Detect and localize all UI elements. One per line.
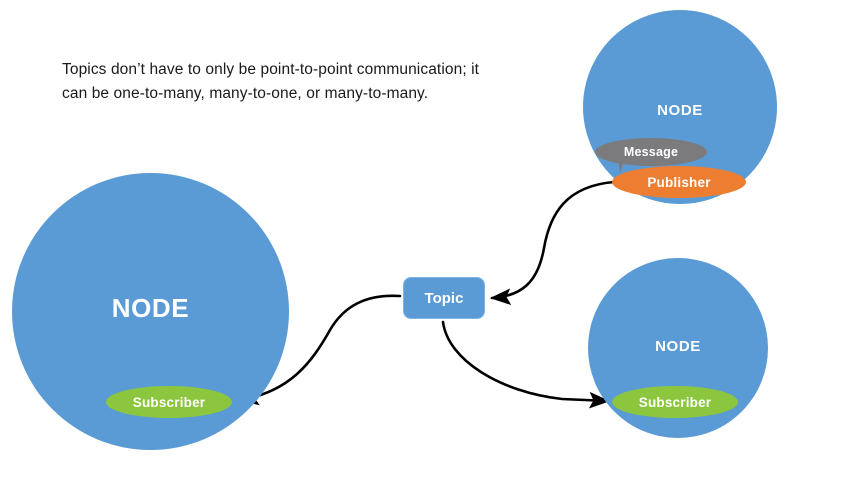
caption-text: Topics don’t have to only be point-to-po… — [62, 58, 482, 106]
diagram-canvas: Topics don’t have to only be point-to-po… — [0, 0, 854, 480]
topic-box[interactable]: Topic — [403, 277, 485, 319]
subscriber-left[interactable]: Subscriber — [106, 386, 232, 418]
topic-label: Topic — [425, 290, 464, 307]
node-left-label: NODE — [12, 293, 289, 324]
arrow-publisher-to-topic — [492, 182, 614, 298]
message-bubble[interactable]: Message — [595, 138, 707, 166]
subscriber-bottom-right[interactable]: Subscriber — [612, 386, 738, 418]
node-top-right-label: NODE — [583, 102, 777, 119]
publisher[interactable]: Publisher — [612, 166, 746, 198]
node-bottom-right-label: NODE — [588, 338, 768, 355]
arrow-topic-to-bottom-right-subscriber — [443, 322, 608, 401]
